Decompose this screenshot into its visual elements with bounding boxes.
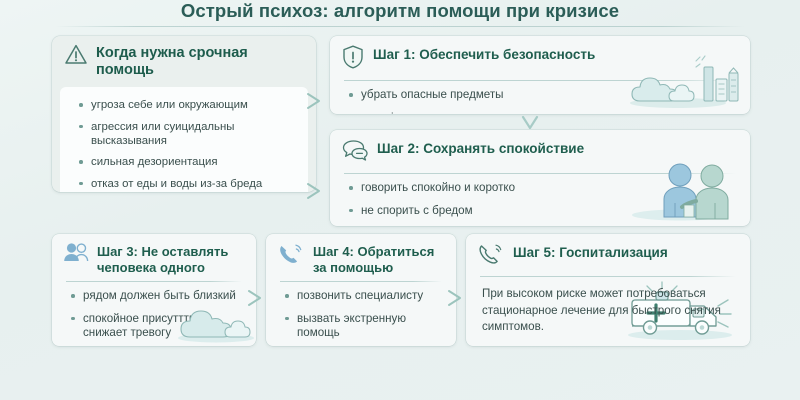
title-divider (55, 26, 745, 27)
list-item: позвонить специалисту (284, 289, 442, 303)
panel-step-3: Шаг 3: Не оставлять чеповека одного рядо… (52, 234, 256, 346)
panel-step-4-heading: Шаг 4: Обратиться за помощью (313, 242, 444, 276)
panel-step-2-header: Шаг 2: Сохранять спокойствие (330, 130, 750, 173)
arrow-step2-to-step3 (302, 178, 328, 209)
list-item: агрессия или суицидальны высказывания (78, 120, 294, 148)
panel-urgent-list-container: угроза себе или окружающим агрессия или … (60, 87, 308, 192)
shield-exclamation-icon (341, 44, 365, 75)
page-title-bar: Острый психоз: алгоритм помощи при кризи… (0, 0, 800, 30)
phone-signal-icon (477, 242, 505, 271)
list-item: сильная дезориентация (78, 155, 294, 169)
panel-urgent-list: угроза себе или окружающим агрессия или … (60, 91, 308, 192)
panel-step-4-list: позвонить специалисту вызвать экстренную… (266, 282, 456, 346)
panel-step-3-list: рядом должен быть близкий спокойное прис… (52, 282, 256, 346)
phone-signal-icon (277, 242, 305, 271)
panel-step-1-header: Шаг 1: Обеспечить безопасность (330, 36, 750, 80)
panel-step-1-list: убрать опасные предметы ограninить досту… (330, 81, 750, 114)
two-people-icon (63, 242, 89, 269)
panel-step-3-header: Шаг 3: Не оставлять чеповека одного (52, 234, 256, 281)
panel-step-4-header: Шаг 4: Обратиться за помощью (266, 234, 456, 281)
list-item: убрать опасные предметы (348, 88, 736, 102)
arrow-urgent-to-step1 (302, 88, 328, 119)
list-item: не спорить с бредом (348, 204, 736, 218)
panel-urgent-heading: Когда нужна срочная помощь (96, 43, 304, 79)
warning-triangle-icon (64, 43, 88, 71)
panel-step-5-body: При высоком риске может потребоваться ст… (466, 277, 750, 344)
panel-step-5: Шаг 5: Госпитализация При высоком риске … (466, 234, 750, 346)
list-item: ограninить доступ к окнам и лекарствам (348, 111, 736, 115)
panel-urgent-signs: Когда нужна срочная помощь угроза себе и… (52, 36, 316, 192)
panel-step-2-list: говорить спокойно и коротко не спорить с… (330, 174, 750, 226)
panel-step-5-heading: Шаг 5: Госпитализация (513, 242, 668, 261)
page-title: Острый психоз: алгоритм помощи при кризи… (0, 0, 800, 26)
panel-step-4: Шаг 4: Обратиться за помощью позвонить с… (266, 234, 456, 346)
list-item: спокойное присутттвие снижает тревогу (70, 312, 242, 340)
list-item: рядом должен быть близкий (70, 289, 242, 303)
panel-step-1-heading: Шаг 1: Обеспечить безопасность (373, 44, 595, 63)
list-item: угроза себе или окружающим (78, 98, 294, 112)
panel-step-3-heading: Шаг 3: Не оставлять чеповека одного (97, 242, 244, 276)
panel-step-5-header: Шаг 5: Госпитализация (466, 234, 750, 276)
list-item: говорить спокойно и коротко (348, 181, 736, 195)
list-item: вызвать экстренную помощь (284, 312, 442, 340)
panel-step-2: Шаг 2: Сохранять спокойствие говорить сп… (330, 130, 750, 226)
speech-bubbles-icon (341, 138, 369, 168)
panel-urgent-header: Когда нужна срочная помощь (52, 36, 316, 85)
panel-step-1: Шаг 1: Обеспечить безопасность убрать оп… (330, 36, 750, 114)
list-item: отказ от еды и воды из-за бреда (78, 177, 294, 191)
panel-step-2-heading: Шаг 2: Сохранять спокойствие (377, 138, 584, 157)
